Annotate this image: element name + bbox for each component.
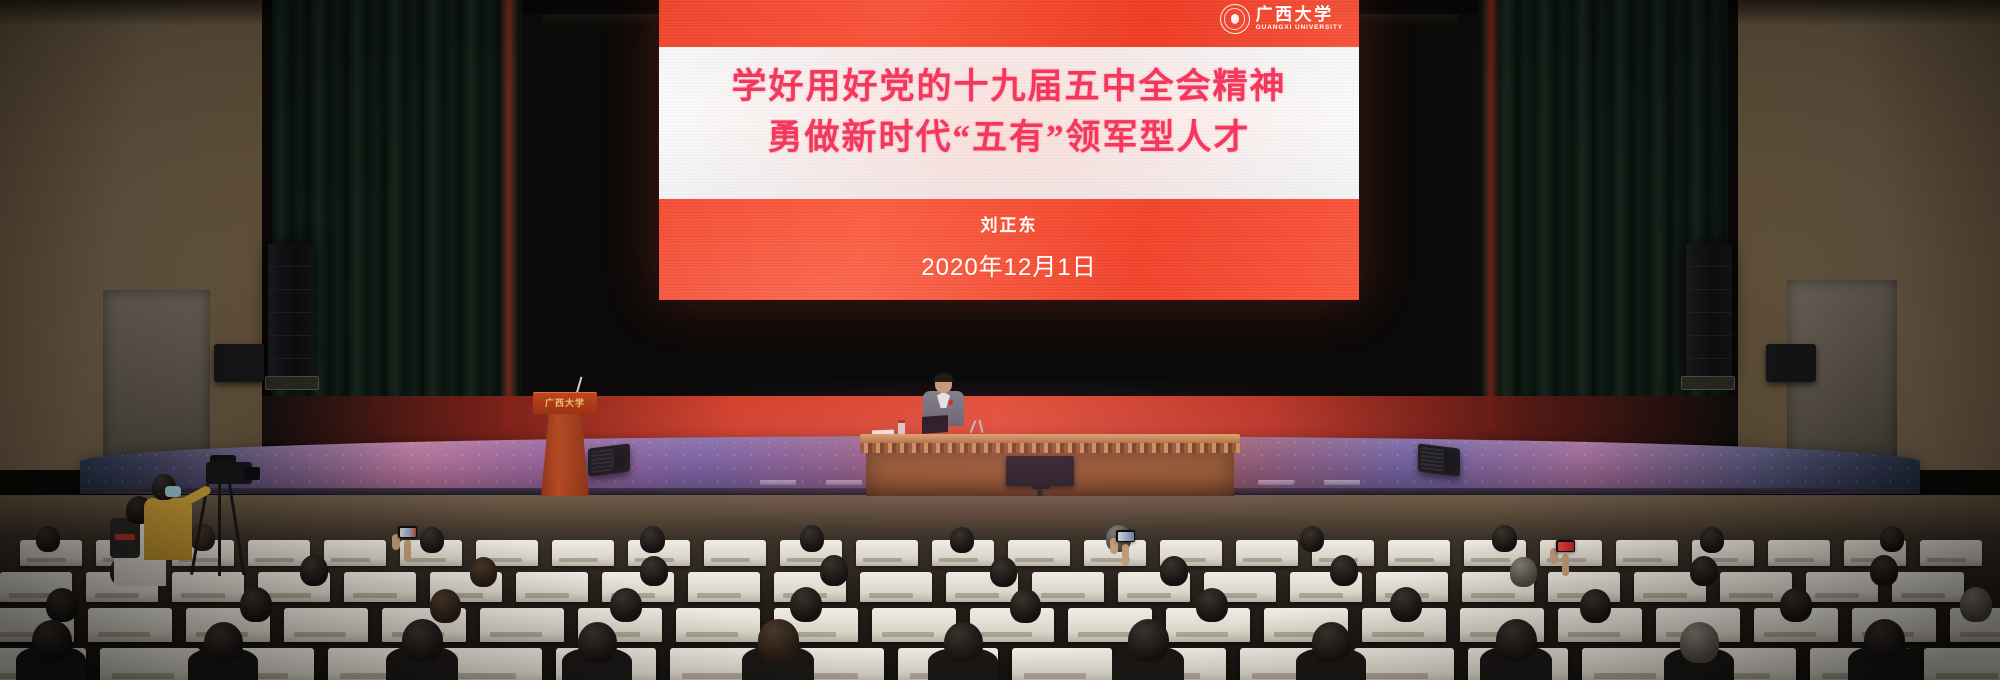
equipment-bag	[110, 518, 140, 558]
podium-body	[541, 414, 589, 497]
audience-head	[610, 588, 642, 622]
speaker-hair	[934, 373, 953, 382]
audience-arm	[1562, 554, 1569, 576]
audience-head	[470, 557, 497, 587]
seat[interactable]	[344, 572, 416, 602]
audience-head	[1880, 526, 1904, 552]
curtain-red-accent-right	[1482, 0, 1500, 430]
seat[interactable]	[1236, 540, 1298, 566]
microphone-icon	[970, 420, 976, 433]
slide-speaker-name: 刘正东	[659, 211, 1359, 236]
audience-head	[1496, 619, 1537, 662]
audience-head	[1160, 556, 1188, 586]
audience-head	[46, 588, 78, 622]
smartphone-screen	[1556, 540, 1575, 552]
camera-lens-icon	[244, 467, 260, 480]
stage-monitor-right	[1418, 443, 1460, 476]
stage-floor-hatch-3	[1258, 480, 1294, 485]
audience-head	[1300, 526, 1324, 552]
monitor-icon	[1006, 456, 1074, 486]
face-mask-icon	[165, 486, 181, 497]
smartphone-screen	[398, 526, 417, 538]
seat[interactable]	[1388, 540, 1450, 566]
audience-head	[950, 527, 974, 553]
seat[interactable]	[1924, 648, 2000, 680]
audience-head	[1128, 619, 1169, 662]
seat[interactable]	[1008, 540, 1070, 566]
seat[interactable]	[88, 608, 172, 642]
microphone-icon	[978, 420, 983, 433]
audience-head	[1330, 555, 1358, 586]
curtain-red-accent-left	[500, 0, 518, 430]
seat[interactable]	[1012, 648, 1112, 680]
audience-arm	[1122, 544, 1129, 566]
audience-head	[1960, 587, 1992, 622]
slide-title-line-2: 勇做新时代“五有”领军型人才	[659, 113, 1359, 164]
seat[interactable]	[676, 608, 760, 642]
university-name-cn: 广西大学	[1256, 6, 1343, 23]
seat[interactable]	[872, 608, 956, 642]
line-array-left	[268, 244, 314, 376]
tripod-icon	[218, 484, 221, 576]
university-seal-icon	[1220, 4, 1250, 34]
slide-title-line-1: 学好用好党的十九届五中全会精神	[659, 62, 1359, 113]
slide-title: 学好用好党的十九届五中全会精神 勇做新时代“五有”领军型人才	[659, 62, 1359, 164]
audience-head	[1010, 589, 1041, 623]
auditorium-scene: 广西大学 GUANGXI UNIVERSITY 学好用好党的十九届五中全会精神 …	[0, 0, 2000, 680]
smartphone-screen	[1116, 530, 1135, 542]
audience-head	[1492, 525, 1517, 552]
seat[interactable]	[100, 648, 200, 680]
seat[interactable]	[1920, 540, 1982, 566]
camera-operator-1-body	[144, 498, 192, 560]
monitor-stand	[1032, 484, 1050, 489]
seat[interactable]	[704, 540, 766, 566]
stage-floor-hatch-1	[760, 480, 796, 485]
line-array-base-left	[265, 376, 319, 390]
stage-floor-hatch-4	[1324, 480, 1360, 485]
audience-head	[1580, 589, 1611, 623]
audience-head	[1864, 619, 1905, 662]
camera-crew	[188, 462, 318, 612]
stage-floor-hatch-2	[826, 480, 862, 485]
seat[interactable]	[1354, 648, 1454, 680]
laptop-icon	[922, 415, 948, 434]
seat[interactable]	[284, 608, 368, 642]
audience-head	[1312, 622, 1351, 663]
audience-head	[578, 622, 617, 663]
audience-head	[640, 526, 665, 553]
seat[interactable]	[324, 540, 386, 566]
audience-head	[1680, 622, 1719, 663]
audience-head	[1780, 588, 1812, 622]
seat[interactable]	[856, 540, 918, 566]
seat[interactable]	[1806, 572, 1878, 602]
university-name-en: GUANGXI UNIVERSITY	[1256, 25, 1343, 32]
seat[interactable]	[552, 540, 614, 566]
tripod-icon	[228, 484, 245, 575]
audience-head	[420, 527, 444, 553]
seat[interactable]	[480, 608, 564, 642]
seat[interactable]	[516, 572, 588, 602]
podium-university-label: 广西大学	[533, 396, 597, 409]
side-monitor-left	[214, 344, 264, 382]
seat[interactable]	[1768, 540, 1830, 566]
audience-head	[1690, 556, 1718, 586]
audience-head	[36, 526, 60, 552]
audience-head	[1196, 588, 1228, 622]
audience-head	[758, 619, 799, 662]
audience-head	[800, 525, 824, 552]
audience-head	[430, 589, 461, 623]
audience-head	[820, 555, 848, 586]
audience-head	[32, 620, 72, 662]
lectern-podium[interactable]: 广西大学	[531, 392, 599, 497]
audience-head	[1700, 527, 1724, 553]
seat[interactable]	[1032, 572, 1104, 602]
table-carved-trim	[860, 443, 1240, 453]
audience-head	[990, 557, 1017, 587]
audience-head	[1510, 557, 1537, 587]
audience-head	[1390, 587, 1422, 622]
side-monitor-right	[1766, 344, 1816, 382]
line-array-base-right	[1681, 376, 1735, 390]
audience-head	[204, 622, 243, 663]
table-top-edge	[860, 434, 1240, 443]
seat[interactable]	[1892, 572, 1964, 602]
seat[interactable]	[1616, 540, 1678, 566]
audience-arm	[404, 540, 411, 562]
seat[interactable]	[860, 572, 932, 602]
audience-head	[944, 622, 983, 663]
audience-head	[1870, 555, 1898, 586]
audience-head	[640, 556, 668, 586]
line-array-right	[1686, 244, 1732, 376]
podium-header: 广西大学	[533, 392, 597, 414]
led-presentation-screen[interactable]: 广西大学 GUANGXI UNIVERSITY 学好用好党的十九届五中全会精神 …	[659, 0, 1359, 300]
head-table	[860, 418, 1240, 496]
speaker-badge	[948, 400, 953, 405]
seat[interactable]	[688, 572, 760, 602]
audience-head	[790, 587, 822, 622]
audience-head	[402, 619, 443, 662]
slide-date: 2020年12月1日	[659, 247, 1359, 282]
university-logo: 广西大学 GUANGXI UNIVERSITY	[1220, 4, 1343, 34]
